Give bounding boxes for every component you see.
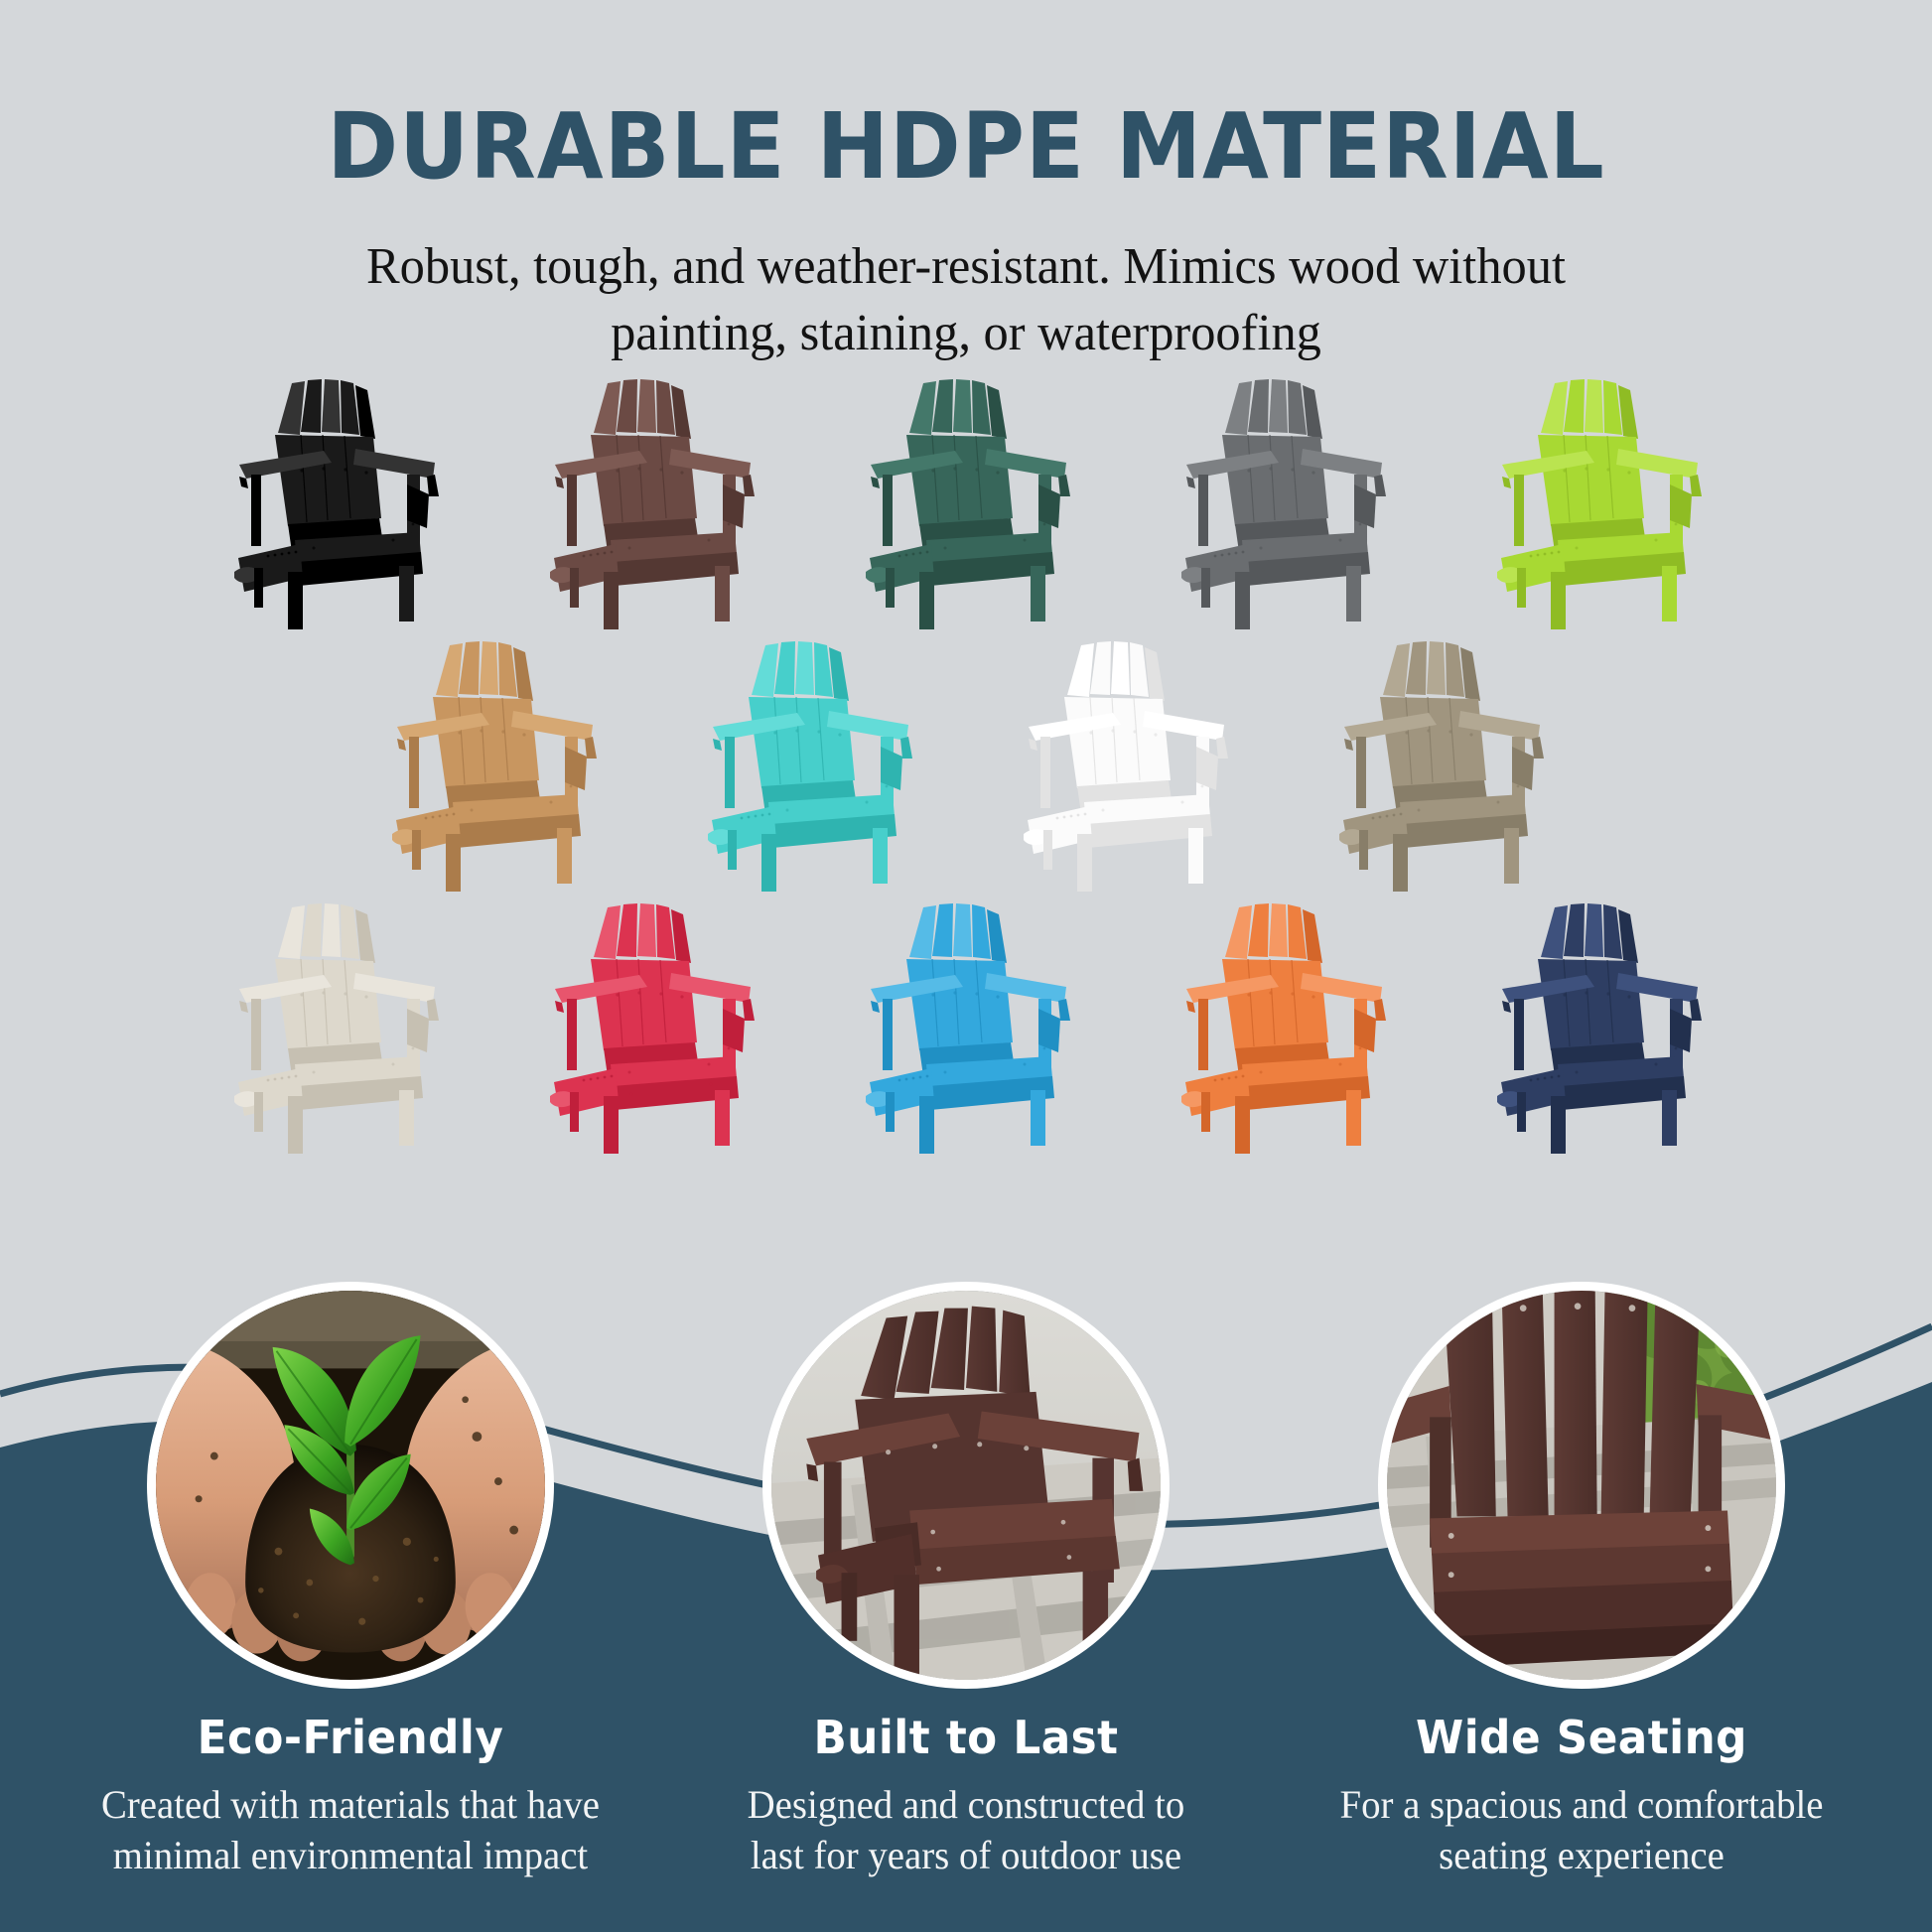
subtitle-line-1: Robust, tough, and weather-resistant. Mi…	[29, 234, 1903, 301]
chair-swatch-navy[interactable]	[1467, 894, 1727, 1160]
adirondack-chair-icon	[836, 894, 1096, 1160]
chair-swatch-brown[interactable]	[520, 369, 780, 635]
chair-swatch-weathered-wood[interactable]	[1310, 631, 1570, 897]
chair-color-grid	[0, 369, 1932, 1160]
adirondack-chair-icon	[205, 894, 465, 1160]
hands-holding-seedling-icon	[156, 1291, 545, 1680]
chair-swatch-ivory[interactable]	[205, 894, 465, 1160]
infographic-page: DURABLE HDPE MATERIAL Robust, tough, and…	[0, 0, 1932, 1932]
adirondack-chair-icon	[678, 631, 938, 897]
feature-desc-line-1: For a spacious and comfortable	[1331, 1780, 1832, 1830]
page-title: DURABLE HDPE MATERIAL	[58, 101, 1873, 193]
brown-adirondack-chair-on-patio-icon	[771, 1291, 1161, 1680]
adirondack-chair-icon	[520, 894, 780, 1160]
adirondack-chair-icon	[994, 631, 1254, 897]
header: DURABLE HDPE MATERIAL Robust, tough, and…	[0, 0, 1932, 366]
feature-description: Created with materials that have minimal…	[100, 1780, 601, 1880]
chair-swatch-gray[interactable]	[1152, 369, 1412, 635]
feature-eco-friendly: Eco-Friendly Created with materials that…	[92, 1282, 609, 1880]
chair-swatch-black[interactable]	[205, 369, 465, 635]
built-to-last-photo-circle	[762, 1282, 1170, 1689]
adirondack-chair-icon	[362, 631, 622, 897]
feature-desc-line-2: minimal environmental impact	[100, 1831, 601, 1880]
feature-title: Built to Last	[721, 1711, 1211, 1764]
adirondack-chair-icon	[1467, 894, 1727, 1160]
eco-friendly-photo-circle	[147, 1282, 554, 1689]
adirondack-chair-icon	[205, 369, 465, 635]
feature-desc-line-1: Created with materials that have	[100, 1780, 601, 1830]
feature-description: Designed and constructed to last for yea…	[716, 1780, 1216, 1880]
chair-swatch-orange[interactable]	[1152, 894, 1412, 1160]
chair-swatch-red[interactable]	[520, 894, 780, 1160]
chair-row-2	[0, 631, 1932, 897]
chair-swatch-dark-green[interactable]	[836, 369, 1096, 635]
chair-row-3	[0, 894, 1932, 1160]
feature-desc-line-2: seating experience	[1331, 1831, 1832, 1880]
feature-list: Eco-Friendly Created with materials that…	[0, 1282, 1932, 1880]
chair-swatch-blue[interactable]	[836, 894, 1096, 1160]
wide-chair-seat-closeup-icon	[1387, 1291, 1776, 1680]
adirondack-chair-icon	[520, 369, 780, 635]
adirondack-chair-icon	[1152, 894, 1412, 1160]
feature-title: Eco-Friendly	[105, 1711, 596, 1764]
feature-desc-line-2: last for years of outdoor use	[716, 1831, 1216, 1880]
wide-seating-photo-circle	[1378, 1282, 1785, 1689]
chair-swatch-white[interactable]	[994, 631, 1254, 897]
adirondack-chair-icon	[836, 369, 1096, 635]
adirondack-chair-icon	[1310, 631, 1570, 897]
subtitle-line-2: painting, staining, or waterproofing	[29, 301, 1903, 367]
chair-swatch-turquoise[interactable]	[678, 631, 938, 897]
page-subtitle: Robust, tough, and weather-resistant. Mi…	[29, 234, 1903, 366]
adirondack-chair-icon	[1152, 369, 1412, 635]
chair-row-1	[0, 369, 1932, 635]
chair-swatch-lime-green[interactable]	[1467, 369, 1727, 635]
feature-description: For a spacious and comfortable seating e…	[1331, 1780, 1832, 1880]
feature-built-to-last: Built to Last Designed and constructed t…	[708, 1282, 1224, 1880]
chair-swatch-teak[interactable]	[362, 631, 622, 897]
feature-title: Wide Seating	[1336, 1711, 1827, 1764]
feature-wide-seating: Wide Seating For a spacious and comforta…	[1323, 1282, 1840, 1880]
feature-desc-line-1: Designed and constructed to	[716, 1780, 1216, 1830]
adirondack-chair-icon	[1467, 369, 1727, 635]
